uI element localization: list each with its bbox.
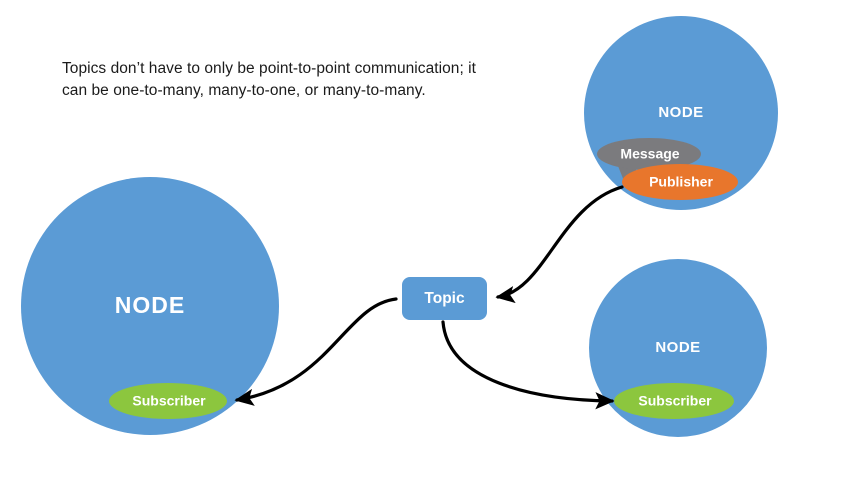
publisher-label: Publisher <box>649 174 713 190</box>
node-label: NODE <box>655 339 700 356</box>
node-subscriber-right[interactable]: NODE Subscriber <box>589 259 767 437</box>
node-label: NODE <box>658 104 703 121</box>
slide-caption: Topics don’t have to only be point-to-po… <box>62 58 482 102</box>
subscriber-label: Subscriber <box>638 393 712 409</box>
connector-topic-to-subscriber-right <box>443 322 612 401</box>
connector-publisher-to-topic <box>498 187 622 297</box>
subscriber-pill-right[interactable]: Subscriber <box>614 383 734 419</box>
slide-canvas: NODE Message Publisher NODE Subscriber <box>0 0 854 480</box>
topic-label: Topic <box>424 290 465 307</box>
node-publisher[interactable]: NODE Message Publisher <box>584 16 778 210</box>
subscriber-pill-left[interactable]: Subscriber <box>109 383 227 419</box>
node-subscriber-left[interactable]: NODE Subscriber <box>21 177 279 435</box>
node-label: NODE <box>115 292 185 318</box>
message-label: Message <box>620 146 679 162</box>
topic-box[interactable]: Topic <box>402 277 487 320</box>
publisher-pill[interactable]: Publisher <box>622 164 738 200</box>
subscriber-label: Subscriber <box>132 393 206 409</box>
